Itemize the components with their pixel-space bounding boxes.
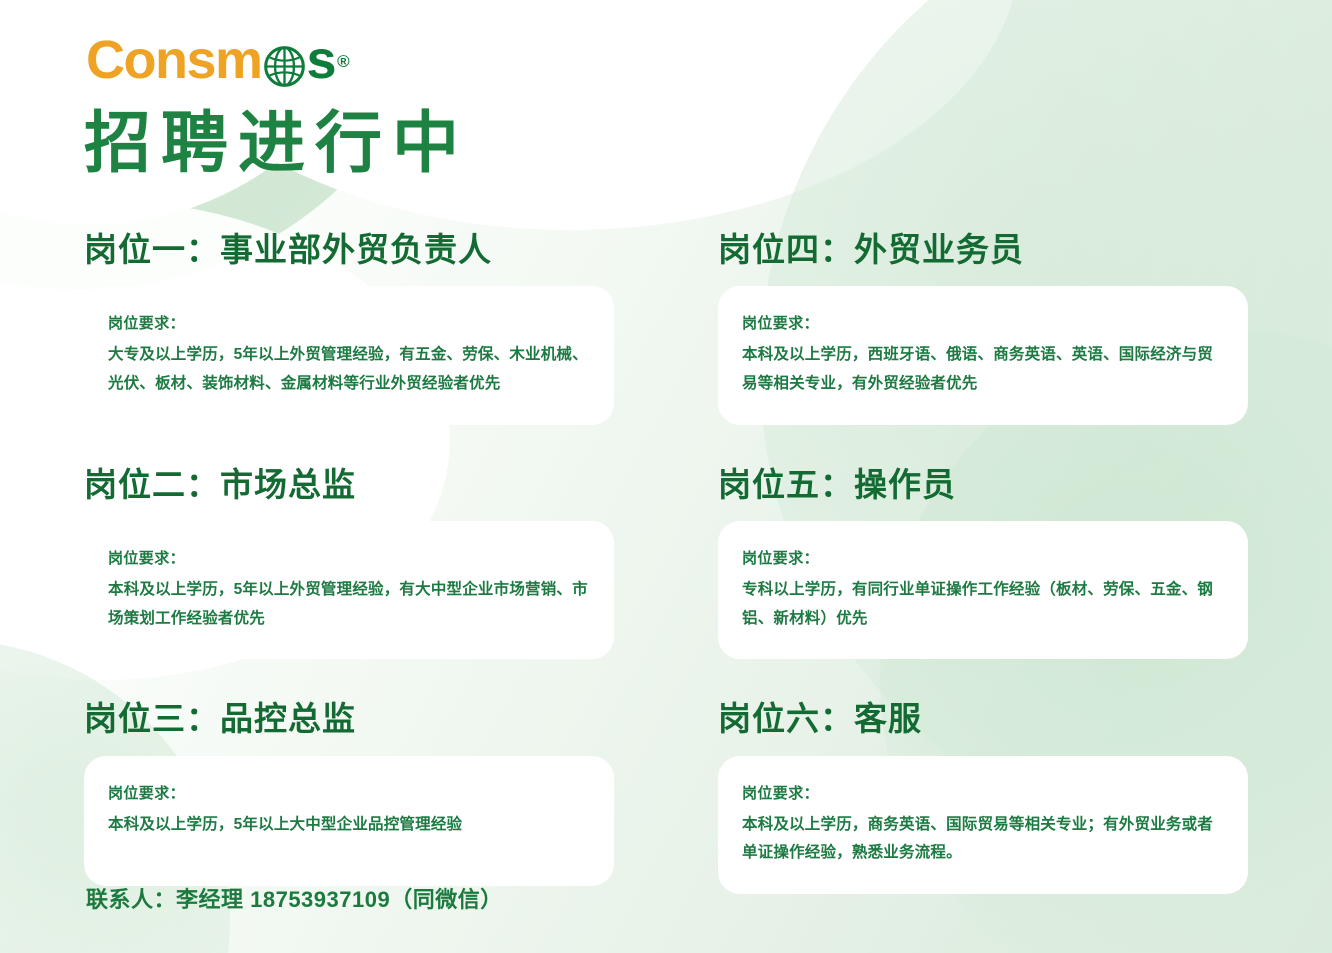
company-logo: Consm s ® — [86, 33, 348, 87]
job-card-5: 岗位要求： 专科以上学历，有同行业单证操作工作经验（板材、劳保、五金、钢铝、新材… — [718, 521, 1248, 659]
job-card-6: 岗位要求： 本科及以上学历，商务英语、国际贸易等相关专业；有外贸业务或者单证操作… — [718, 756, 1248, 894]
job-title-6: 岗位六：客服 — [718, 701, 1248, 737]
job-block-1: 岗位一：事业部外贸负责人 岗位要求： 大专及以上学历，5年以上外贸管理经验，有五… — [84, 232, 614, 425]
contact-info: 联系人：李经理 18753937109（同微信） — [86, 882, 503, 914]
job-block-6: 岗位六：客服 岗位要求： 本科及以上学历，商务英语、国际贸易等相关专业；有外贸业… — [718, 701, 1248, 894]
requirement-text-4: 本科及以上学历，西班牙语、俄语、商务英语、英语、国际经济与贸易等相关专业，有外贸… — [742, 341, 1224, 398]
requirement-label-6: 岗位要求： — [742, 782, 1224, 803]
job-title-5: 岗位五：操作员 — [718, 467, 1248, 503]
job-title-1: 岗位一：事业部外贸负责人 — [84, 232, 614, 268]
globe-icon — [263, 43, 306, 86]
job-block-3: 岗位三：品控总监 岗位要求： 本科及以上学历，5年以上大中型企业品控管理经验 — [84, 701, 614, 885]
job-block-5: 岗位五：操作员 岗位要求： 专科以上学历，有同行业单证操作工作经验（板材、劳保、… — [718, 467, 1248, 660]
requirement-label-3: 岗位要求： — [108, 782, 590, 803]
job-card-3: 岗位要求： 本科及以上学历，5年以上大中型企业品控管理经验 — [84, 756, 614, 886]
requirement-text-6: 本科及以上学历，商务英语、国际贸易等相关专业；有外贸业务或者单证操作经验，熟悉业… — [742, 811, 1224, 868]
logo-text-green: s — [307, 33, 336, 87]
requirement-label-5: 岗位要求： — [742, 547, 1224, 568]
job-card-4: 岗位要求： 本科及以上学历，西班牙语、俄语、商务英语、英语、国际经济与贸易等相关… — [718, 286, 1248, 424]
job-block-2: 岗位二：市场总监 岗位要求： 本科及以上学历，5年以上外贸管理经验，有大中型企业… — [84, 467, 614, 660]
page-title: 招聘进行中 — [84, 110, 469, 177]
job-card-1: 岗位要求： 大专及以上学历，5年以上外贸管理经验，有五金、劳保、木业机械、光伏、… — [84, 286, 614, 424]
requirement-text-2: 本科及以上学历，5年以上外贸管理经验，有大中型企业市场营销、市场策划工作经验者优… — [108, 576, 590, 633]
requirement-text-5: 专科以上学历，有同行业单证操作工作经验（板材、劳保、五金、钢铝、新材料）优先 — [742, 576, 1224, 633]
job-title-3: 岗位三：品控总监 — [84, 701, 614, 737]
registered-trademark-icon: ® — [337, 53, 348, 70]
requirement-text-1: 大专及以上学历，5年以上外贸管理经验，有五金、劳保、木业机械、光伏、板材、装饰材… — [108, 341, 590, 398]
requirement-label-1: 岗位要求： — [108, 312, 590, 333]
recruitment-poster: Consm s ® 招聘进行中 岗 — [0, 0, 1332, 953]
requirement-label-2: 岗位要求： — [108, 547, 590, 568]
job-block-4: 岗位四：外贸业务员 岗位要求： 本科及以上学历，西班牙语、俄语、商务英语、英语、… — [718, 232, 1248, 425]
logo-text-orange: Consm — [86, 33, 262, 87]
job-title-2: 岗位二：市场总监 — [84, 467, 614, 503]
job-card-2: 岗位要求： 本科及以上学历，5年以上外贸管理经验，有大中型企业市场营销、市场策划… — [84, 521, 614, 659]
job-title-4: 岗位四：外贸业务员 — [718, 232, 1248, 268]
jobs-column-right: 岗位四：外贸业务员 岗位要求： 本科及以上学历，西班牙语、俄语、商务英语、英语、… — [718, 232, 1248, 894]
requirement-label-4: 岗位要求： — [742, 312, 1224, 333]
requirement-text-3: 本科及以上学历，5年以上大中型企业品控管理经验 — [108, 811, 590, 840]
logo-wordmark: Consm s ® — [86, 33, 348, 87]
jobs-column-left: 岗位一：事业部外贸负责人 岗位要求： 大专及以上学历，5年以上外贸管理经验，有五… — [84, 232, 614, 886]
